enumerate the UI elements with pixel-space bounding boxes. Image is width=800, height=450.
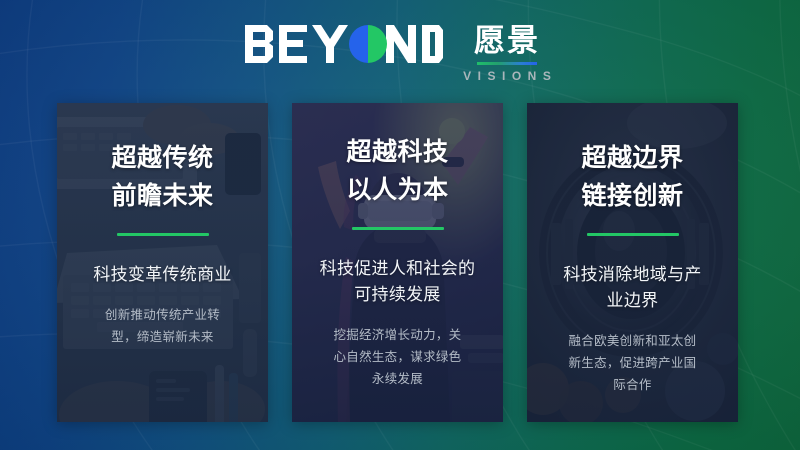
card-title-line: 以人为本 [346,171,448,209]
card-subtitle: 科技消除地域与产 业边界 [563,262,701,314]
card-divider [352,227,444,230]
card-title-line: 超越传统 [111,139,213,177]
card-beyond-tradition[interactable]: 超越传统 前瞻未来 科技变革传统商业 创新推动传统产业转 型，缔造崭新未来 [57,103,268,422]
card-subtitle-line: 科技消除地域与产 [563,262,701,288]
card-body: 创新推动传统产业转 型，缔造崭新未来 [105,304,220,348]
card-title: 超越传统 前瞻未来 [111,139,213,215]
card-body-line: 际合作 [568,374,696,396]
card-title-line: 前瞻未来 [111,177,213,215]
card-divider [117,233,209,236]
card-beyond-technology[interactable]: 超越科技 以人为本 科技促进人和社会的 可持续发展 挖掘经济增长动力，关 心自然… [292,103,503,422]
card-title: 超越边界 链接创新 [581,139,683,215]
card-body-line: 新生态，促进跨产业国 [568,352,696,374]
card-title-line: 超越科技 [346,133,448,171]
card-subtitle-line: 业边界 [563,288,701,314]
logo-chinese-text: 愿景 [474,23,540,59]
split-circle-icon [349,25,387,63]
card-title: 超越科技 以人为本 [346,133,448,209]
card-body-line: 融合欧美创新和亚太创 [568,330,696,352]
card-subtitle-line: 科技促进人和社会的 [320,256,476,282]
card-subtitle: 科技促进人和社会的 可持续发展 [320,256,476,308]
logo-chinese-block: 愿景 VISIONS [457,22,558,83]
card-body-line: 心自然生态，谋求绿色 [333,346,461,368]
card-subtitle-line: 科技变革传统商业 [93,262,231,288]
card-body-line: 永续发展 [333,368,461,390]
card-row: 超越传统 前瞻未来 科技变革传统商业 创新推动传统产业转 型，缔造崭新未来 [57,103,738,422]
card-title-line: 超越边界 [581,139,683,177]
slide-root: 愿景 VISIONS [0,0,800,450]
card-subtitle-line: 可持续发展 [320,282,476,308]
card-title-line: 链接创新 [581,177,683,215]
card-body: 融合欧美创新和亚太创 新生态，促进跨产业国 际合作 [568,330,696,396]
card-body-line: 创新推动传统产业转 [105,304,220,326]
card-body: 挖掘经济增长动力，关 心自然生态，谋求绿色 永续发展 [333,324,461,390]
logo-gradient-bar [477,62,537,65]
card-beyond-boundaries[interactable]: 超越边界 链接创新 科技消除地域与产 业边界 融合欧美创新和亚太创 新生态，促进… [527,103,738,422]
logo-subtitle: VISIONS [457,70,558,83]
card-body-line: 挖掘经济增长动力，关 [333,324,461,346]
card-subtitle: 科技变革传统商业 [93,262,231,288]
logo-block: 愿景 VISIONS [0,22,800,83]
card-divider [587,233,679,236]
beyond-wordmark [243,22,443,66]
card-body-line: 型，缔造崭新未来 [105,326,220,348]
beyond-wordmark-svg [243,22,443,66]
